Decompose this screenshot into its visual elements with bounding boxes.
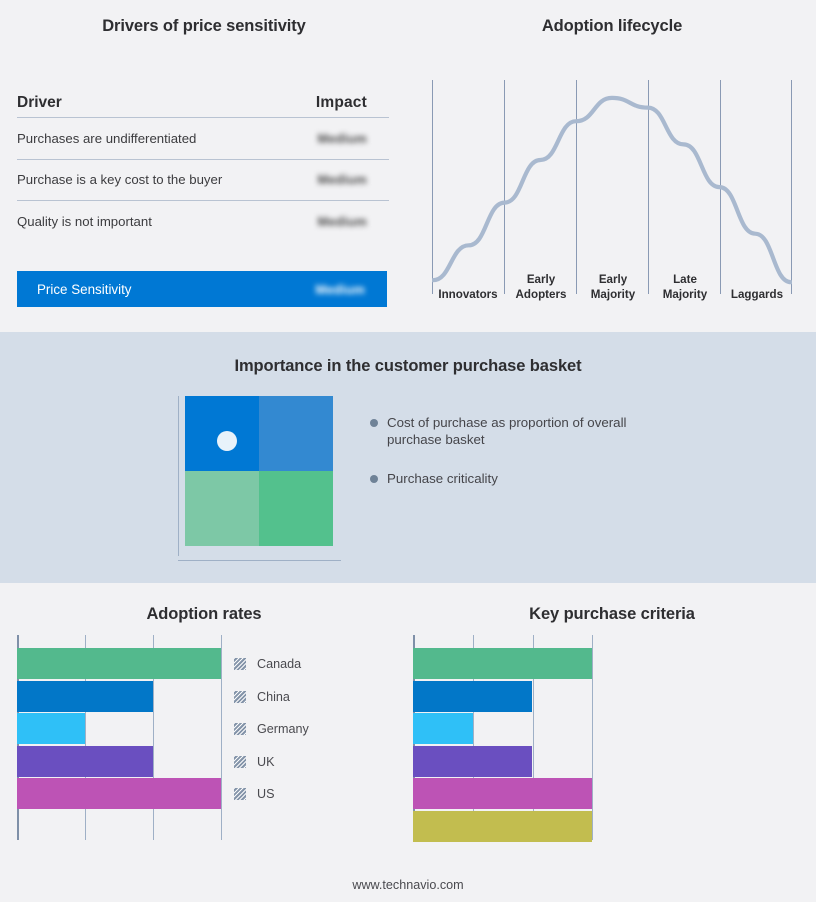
infographic-page: Drivers of price sensitivity Driver Impa…	[0, 0, 816, 902]
footer-url: www.technavio.com	[0, 878, 816, 892]
matrix-x-axis	[178, 560, 341, 561]
price-sensitivity-label: Price Sensitivity	[37, 282, 132, 297]
impact-value: Medium	[317, 214, 367, 229]
impact-value: Medium	[317, 172, 367, 187]
table-row: Purchase is a key cost to the buyer Medi…	[17, 160, 389, 202]
adoption-rates-legend: CanadaChinaGermanyUKUS	[234, 648, 309, 811]
importance-legend: Cost of purchase as proportion of overal…	[370, 414, 670, 509]
bar-series	[17, 635, 222, 840]
legend-item: Germany	[234, 713, 309, 746]
lifecycle-chart: Innovators Early Adopters Early Majority…	[432, 80, 792, 310]
matrix-position-marker	[217, 431, 237, 451]
bar	[413, 648, 592, 679]
lifecycle-segment-labels: Innovators Early Adopters Early Majority…	[432, 258, 792, 302]
lifecycle-panel-title: Adoption lifecycle	[408, 17, 816, 36]
matrix-y-axis	[178, 396, 179, 556]
panel-adoption-rates: Adoption rates CanadaChinaGermanyUKUS	[0, 583, 408, 902]
key-purchase-criteria-chart	[413, 635, 593, 840]
bullet-icon	[370, 475, 378, 483]
lifecycle-label-innovators: Innovators	[432, 288, 504, 303]
driver-label: Purchase is a key cost to the buyer	[17, 172, 222, 187]
panel-key-purchase-criteria: Key purchase criteria InnovationPriceQua…	[408, 583, 816, 902]
legend-swatch-icon	[234, 691, 246, 703]
legend-swatch-icon	[234, 788, 246, 800]
drivers-table: Driver Impact Purchases are undifferenti…	[17, 88, 389, 243]
legend-label: UK	[257, 755, 275, 769]
row-importance-band: Importance in the customer purchase bask…	[0, 332, 816, 583]
column-header-impact: Impact	[316, 94, 367, 112]
bar	[17, 713, 85, 744]
panel-drivers-of-price-sensitivity: Drivers of price sensitivity Driver Impa…	[0, 0, 408, 332]
lifecycle-label-late-majority: Late Majority	[650, 273, 720, 302]
legend-label: Canada	[257, 657, 301, 671]
legend-swatch-icon	[234, 756, 246, 768]
panel-adoption-lifecycle: Adoption lifecycle Innovators Early Adop…	[408, 0, 816, 332]
matrix-quadrant-bottom-left	[185, 471, 259, 546]
bar	[17, 648, 221, 679]
table-header-row: Driver Impact	[17, 88, 389, 118]
legend-item: US	[234, 778, 309, 811]
table-row: Quality is not important Medium	[17, 201, 389, 243]
row-bottom: Adoption rates CanadaChinaGermanyUKUS Ke…	[0, 583, 816, 902]
lifecycle-label-early-adopters: Early Adopters	[506, 273, 576, 302]
driver-label: Purchases are undifferentiated	[17, 131, 196, 146]
adoption-rates-panel-title: Adoption rates	[0, 605, 408, 624]
matrix-quadrant-top-right	[259, 396, 333, 471]
importance-panel-title: Importance in the customer purchase bask…	[0, 357, 816, 376]
price-sensitivity-summary-row: Price Sensitivity Medium	[17, 271, 387, 307]
legend-item: China	[234, 681, 309, 714]
bar	[17, 778, 221, 809]
price-sensitivity-impact-value: Medium	[315, 282, 365, 297]
legend-label: US	[257, 787, 275, 801]
legend-swatch-icon	[234, 723, 246, 735]
adoption-rates-chart	[17, 635, 222, 840]
bar	[17, 681, 153, 712]
legend-swatch-icon	[234, 658, 246, 670]
matrix-quadrant-bottom-right	[259, 471, 333, 546]
driver-label: Quality is not important	[17, 214, 152, 229]
lifecycle-label-laggards: Laggards	[722, 288, 792, 303]
bar	[413, 811, 592, 842]
bar	[413, 681, 532, 712]
purchase-basket-matrix	[178, 396, 343, 561]
drivers-panel-title: Drivers of price sensitivity	[0, 17, 408, 36]
bar-series	[413, 635, 593, 840]
list-item: Purchase criticality	[370, 470, 670, 487]
legend-item: Canada	[234, 648, 309, 681]
bar	[413, 713, 473, 744]
matrix-quadrants	[185, 396, 333, 546]
legend-label: Cost of purchase as proportion of overal…	[387, 414, 649, 448]
impact-value: Medium	[317, 131, 367, 146]
legend-label: Purchase criticality	[387, 470, 498, 487]
legend-label: Germany	[257, 722, 309, 736]
lifecycle-label-early-majority: Early Majority	[578, 273, 648, 302]
legend-item: UK	[234, 746, 309, 779]
bar	[413, 746, 532, 777]
column-header-driver: Driver	[17, 94, 62, 112]
key-criteria-panel-title: Key purchase criteria	[408, 605, 816, 624]
bar	[17, 746, 153, 777]
list-item: Cost of purchase as proportion of overal…	[370, 414, 670, 448]
table-row: Purchases are undifferentiated Medium	[17, 118, 389, 160]
bar	[413, 778, 592, 809]
legend-label: China	[257, 690, 290, 704]
row-top: Drivers of price sensitivity Driver Impa…	[0, 0, 816, 332]
bullet-icon	[370, 419, 378, 427]
